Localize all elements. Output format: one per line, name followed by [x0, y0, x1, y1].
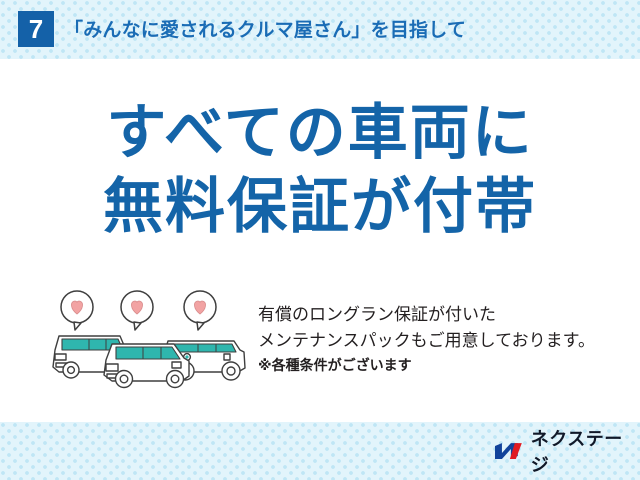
hero-headline: すべての車両に 無料保証が付帯 — [0, 96, 640, 244]
promo-line-1: 有償のロングラン保証が付いた — [258, 302, 630, 328]
promotional-banner: 7 「みんなに愛されるクルマ屋さん」を目指して すべての車両に 無料保証が付帯 — [0, 0, 640, 480]
three-cars-illustration — [48, 288, 258, 400]
promo-note: ※各種条件がございます — [258, 354, 630, 378]
n-mark-icon — [494, 439, 524, 463]
section-number-badge: 7 — [18, 11, 54, 47]
mid-section: 有償のロングラン保証が付いた メンテナンスパックもご用意しております。 ※各種条… — [0, 288, 640, 408]
brand-logo-text: ネクステージ — [531, 425, 640, 477]
promo-text-block: 有償のロングラン保証が付いた メンテナンスパックもご用意しております。 ※各種条… — [258, 302, 630, 378]
header-title: 「みんなに愛されるクルマ屋さん」を目指して — [64, 15, 466, 42]
promo-line-2: メンテナンスパックもご用意しております。 — [258, 328, 630, 354]
brand-logo: ネクステージ — [494, 437, 640, 465]
hero-headline-line-2: 無料保証が付帯 — [0, 170, 640, 244]
hero-headline-line-1: すべての車両に — [0, 96, 640, 170]
